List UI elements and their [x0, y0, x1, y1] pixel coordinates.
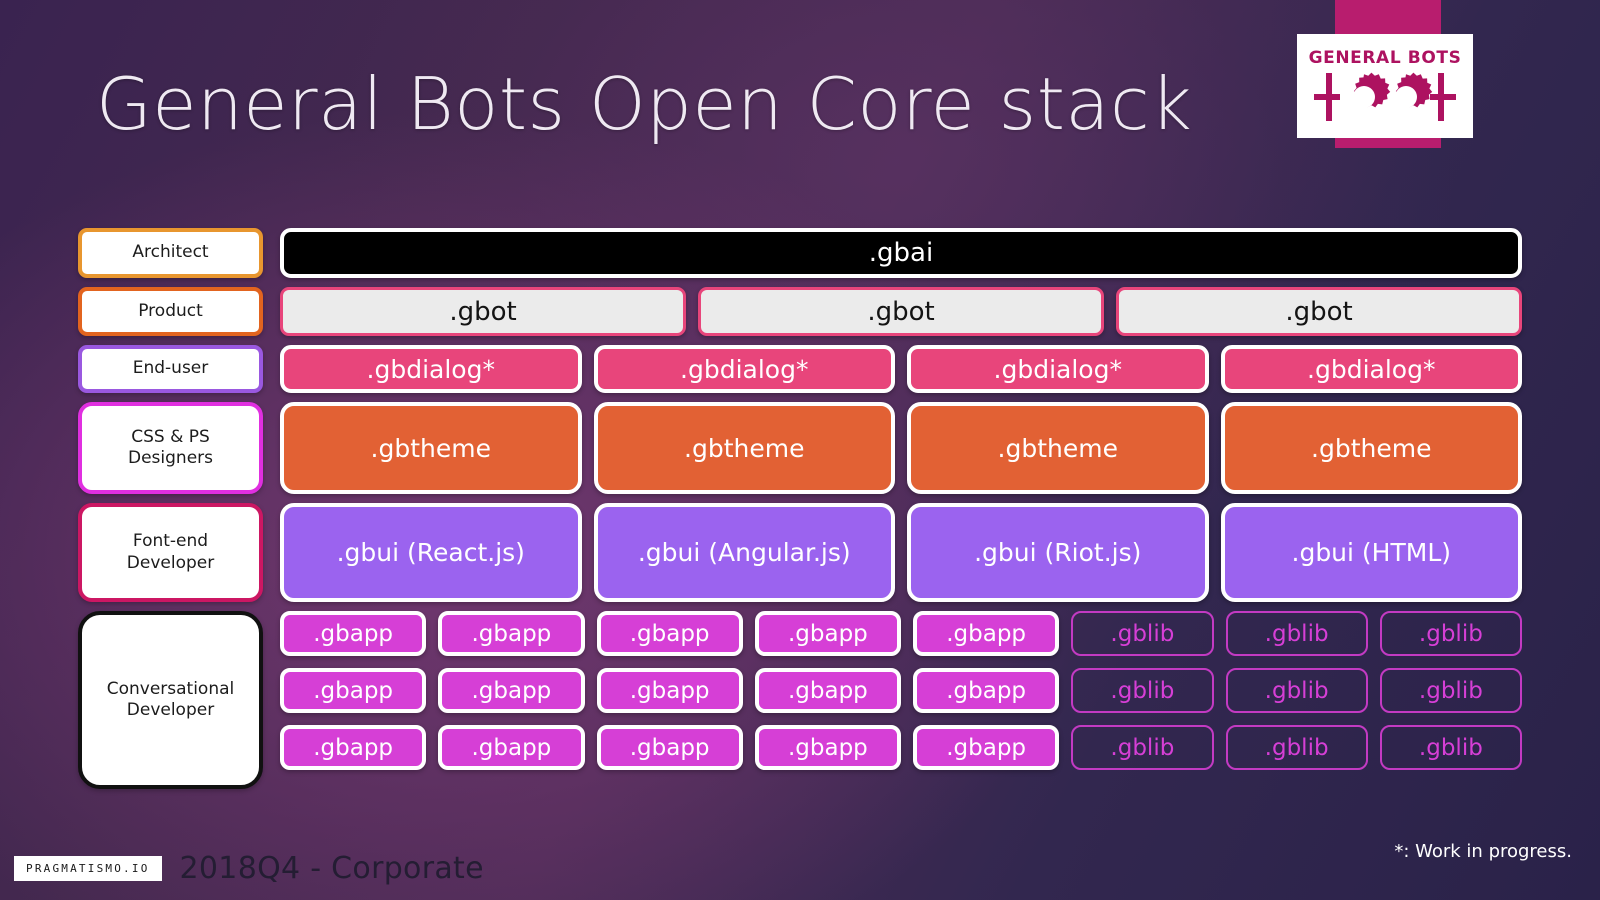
role-label-conversational-developer-wrap: Conversational Developer	[78, 611, 263, 789]
stack-diagram: Architect .gbai Product .gbot .gbot .gbo…	[78, 228, 1522, 789]
chip-gblib[interactable]: .gblib	[1380, 611, 1522, 656]
chip-gbapp[interactable]: .gbapp	[913, 668, 1059, 713]
page-title: General Bots Open Core stack	[96, 62, 1192, 146]
role-label-end-user[interactable]: End-user	[78, 345, 263, 393]
chip-gbapp[interactable]: .gbapp	[755, 725, 901, 770]
stack-row-gbai: Architect .gbai	[78, 228, 1522, 278]
footer-bar: PRAGMATISMO.IO 2018Q4 - Corporate	[14, 851, 484, 886]
stack-row-gbapp-gblib: Conversational Developer .gbapp .gbapp .…	[78, 611, 1522, 789]
layer-cells-gbdialog: .gbdialog* .gbdialog* .gbdialog* .gbdial…	[280, 345, 1522, 393]
chip-gbapp[interactable]: .gbapp	[280, 611, 426, 656]
chip-gbapp[interactable]: .gbapp	[280, 725, 426, 770]
deck-label: 2018Q4 - Corporate	[180, 851, 484, 886]
chip-gbtheme[interactable]: .gbtheme	[280, 402, 582, 494]
chip-gbapp[interactable]: .gbapp	[597, 725, 743, 770]
role-label-line-1: CSS & PS	[131, 427, 210, 447]
chip-gbui-react[interactable]: .gbui (React.js)	[280, 503, 582, 602]
chip-gbdialog[interactable]: .gbdialog*	[907, 345, 1209, 393]
chip-gblib[interactable]: .gblib	[1071, 611, 1213, 656]
chip-gblib[interactable]: .gblib	[1380, 668, 1522, 713]
chip-gblib[interactable]: .gblib	[1071, 725, 1213, 770]
chip-gbdialog[interactable]: .gbdialog*	[594, 345, 896, 393]
stack-row-gbtheme: CSS & PS Designers .gbtheme .gbtheme .gb…	[78, 402, 1522, 494]
role-label-conversational-developer[interactable]: Conversational Developer	[78, 611, 263, 789]
stack-row-gbot: Product .gbot .gbot .gbot	[78, 287, 1522, 336]
chip-gbapp[interactable]: .gbapp	[438, 611, 584, 656]
chip-gbtheme[interactable]: .gbtheme	[594, 402, 896, 494]
chip-gbtheme[interactable]: .gbtheme	[907, 402, 1209, 494]
chip-gbdialog[interactable]: .gbdialog*	[1221, 345, 1523, 393]
chip-gbui-html[interactable]: .gbui (HTML)	[1221, 503, 1523, 602]
logo-wordmark: GENERAL BOTS	[1309, 50, 1462, 67]
chip-gbui-angular[interactable]: .gbui (Angular.js)	[594, 503, 896, 602]
chip-gbapp[interactable]: .gbapp	[280, 668, 426, 713]
role-label-line-2: Developer	[127, 700, 214, 720]
role-label-product[interactable]: Product	[78, 287, 263, 336]
chip-gblib[interactable]: .gblib	[1226, 611, 1368, 656]
role-label-line-1: Font-end	[133, 531, 208, 551]
footnote-work-in-progress: *: Work in progress.	[1394, 841, 1572, 862]
chip-gbapp[interactable]: .gbapp	[438, 725, 584, 770]
chip-gbai[interactable]: .gbai	[280, 228, 1522, 278]
pragmatismo-wordmark: PRAGMATISMO.IO	[26, 863, 150, 874]
chip-gbapp[interactable]: .gbapp	[597, 611, 743, 656]
role-label-designers[interactable]: CSS & PS Designers	[78, 402, 263, 494]
stack-row-gbui: Font-end Developer .gbui (React.js) .gbu…	[78, 503, 1522, 602]
chip-gbtheme[interactable]: .gbtheme	[1221, 402, 1523, 494]
chip-gbui-riot[interactable]: .gbui (Riot.js)	[907, 503, 1209, 602]
role-label-line-1: Conversational	[107, 679, 235, 699]
chip-gbot[interactable]: .gbot	[280, 287, 686, 336]
chip-gblib[interactable]: .gblib	[1071, 668, 1213, 713]
grid-line: .gbapp .gbapp .gbapp .gbapp .gbapp .gbli…	[280, 668, 1522, 713]
pragmatismo-logo: PRAGMATISMO.IO	[14, 856, 162, 881]
layer-cells-gbai: .gbai	[280, 228, 1522, 278]
layer-cells-gbtheme: .gbtheme .gbtheme .gbtheme .gbtheme	[280, 402, 1522, 494]
chip-gbapp[interactable]: .gbapp	[597, 668, 743, 713]
role-label-line-2: Designers	[128, 448, 213, 468]
role-label-frontend-developer[interactable]: Font-end Developer	[78, 503, 263, 602]
layer-cells-gbui: .gbui (React.js) .gbui (Angular.js) .gbu…	[280, 503, 1522, 602]
chip-gbapp[interactable]: .gbapp	[755, 611, 901, 656]
chip-gbapp[interactable]: .gbapp	[913, 725, 1059, 770]
chip-gblib[interactable]: .gblib	[1226, 725, 1368, 770]
layer-cells-gbot: .gbot .gbot .gbot	[280, 287, 1522, 336]
role-label-line-2: Developer	[127, 553, 214, 573]
chip-gbdialog[interactable]: .gbdialog*	[280, 345, 582, 393]
chip-gbapp[interactable]: .gbapp	[913, 611, 1059, 656]
grid-line: .gbapp .gbapp .gbapp .gbapp .gbapp .gbli…	[280, 611, 1522, 656]
general-bots-logo: GENERAL BOTS	[1297, 34, 1473, 138]
chip-gbapp[interactable]: .gbapp	[438, 668, 584, 713]
slide-canvas: General Bots Open Core stack GENERAL BOT…	[0, 0, 1600, 900]
two-gears-icon	[1310, 71, 1460, 123]
chip-gbot[interactable]: .gbot	[1116, 287, 1522, 336]
grid-line: .gbapp .gbapp .gbapp .gbapp .gbapp .gbli…	[280, 725, 1522, 770]
chip-gblib[interactable]: .gblib	[1380, 725, 1522, 770]
chip-gbapp[interactable]: .gbapp	[755, 668, 901, 713]
chip-gbot[interactable]: .gbot	[698, 287, 1104, 336]
chip-gblib[interactable]: .gblib	[1226, 668, 1368, 713]
role-label-architect[interactable]: Architect	[78, 228, 263, 278]
gbapp-gblib-grid: .gbapp .gbapp .gbapp .gbapp .gbapp .gbli…	[280, 611, 1522, 789]
stack-row-gbdialog: End-user .gbdialog* .gbdialog* .gbdialog…	[78, 345, 1522, 393]
